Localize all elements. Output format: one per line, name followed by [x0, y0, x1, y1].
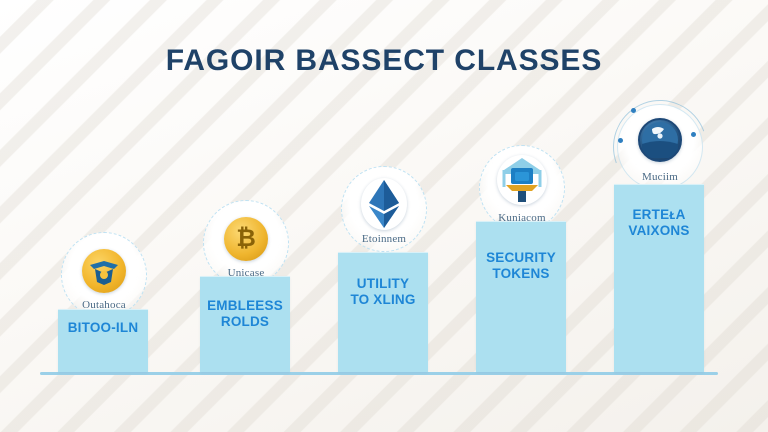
infographic-canvas: FAGOIR BASSECT CLASSES Outahoca BITOO-IL… [0, 0, 768, 432]
bar-label-embleess-rolds: EMBLEESS ROLDS [200, 298, 290, 329]
orbit-dot [691, 132, 696, 137]
pickaxe-glyph [82, 249, 126, 293]
bar-label-utility-to-xling: UTILITY TO XLING [338, 276, 428, 307]
bar-security-tokens[interactable] [476, 221, 566, 372]
badge-disc [497, 155, 547, 205]
badge-disc [361, 178, 407, 230]
ethereum-glyph [361, 178, 407, 230]
orbit-dot [618, 138, 623, 143]
badge-caption: Etoinnem [341, 233, 427, 245]
bar-label-security-tokens: SECURITY TOKENS [476, 250, 566, 281]
bar-label-bitoo-iln: BITOO-ILN [58, 320, 148, 336]
bar-chart: Outahoca BITOO-ILN ₿ Unicase EMBLEESS RO… [0, 0, 768, 432]
coin-badge-icon: ₿ Unicase [203, 200, 289, 286]
globe-glyph [640, 120, 680, 160]
bar-utility-to-xling[interactable] [338, 252, 428, 372]
bitcoin-badge-icon: Outahoca [61, 232, 147, 318]
ethereum-badge-icon: Etoinnem [341, 166, 427, 252]
badge-disc [82, 249, 126, 293]
badge-disc [638, 118, 682, 162]
vault-glyph [497, 155, 547, 205]
vault-badge-icon: Kuniacom [479, 145, 565, 231]
orbit-dot [631, 108, 636, 113]
bar-label-erteta-vaixons: ERTEᴌA VAIXONS [614, 207, 704, 238]
globe-badge-icon: Muciim [617, 104, 703, 190]
badge-caption: Muciim [617, 171, 703, 183]
chart-baseline [40, 372, 718, 375]
badge-disc: ₿ [224, 217, 268, 261]
bar-bitoo-iln[interactable] [58, 309, 148, 372]
